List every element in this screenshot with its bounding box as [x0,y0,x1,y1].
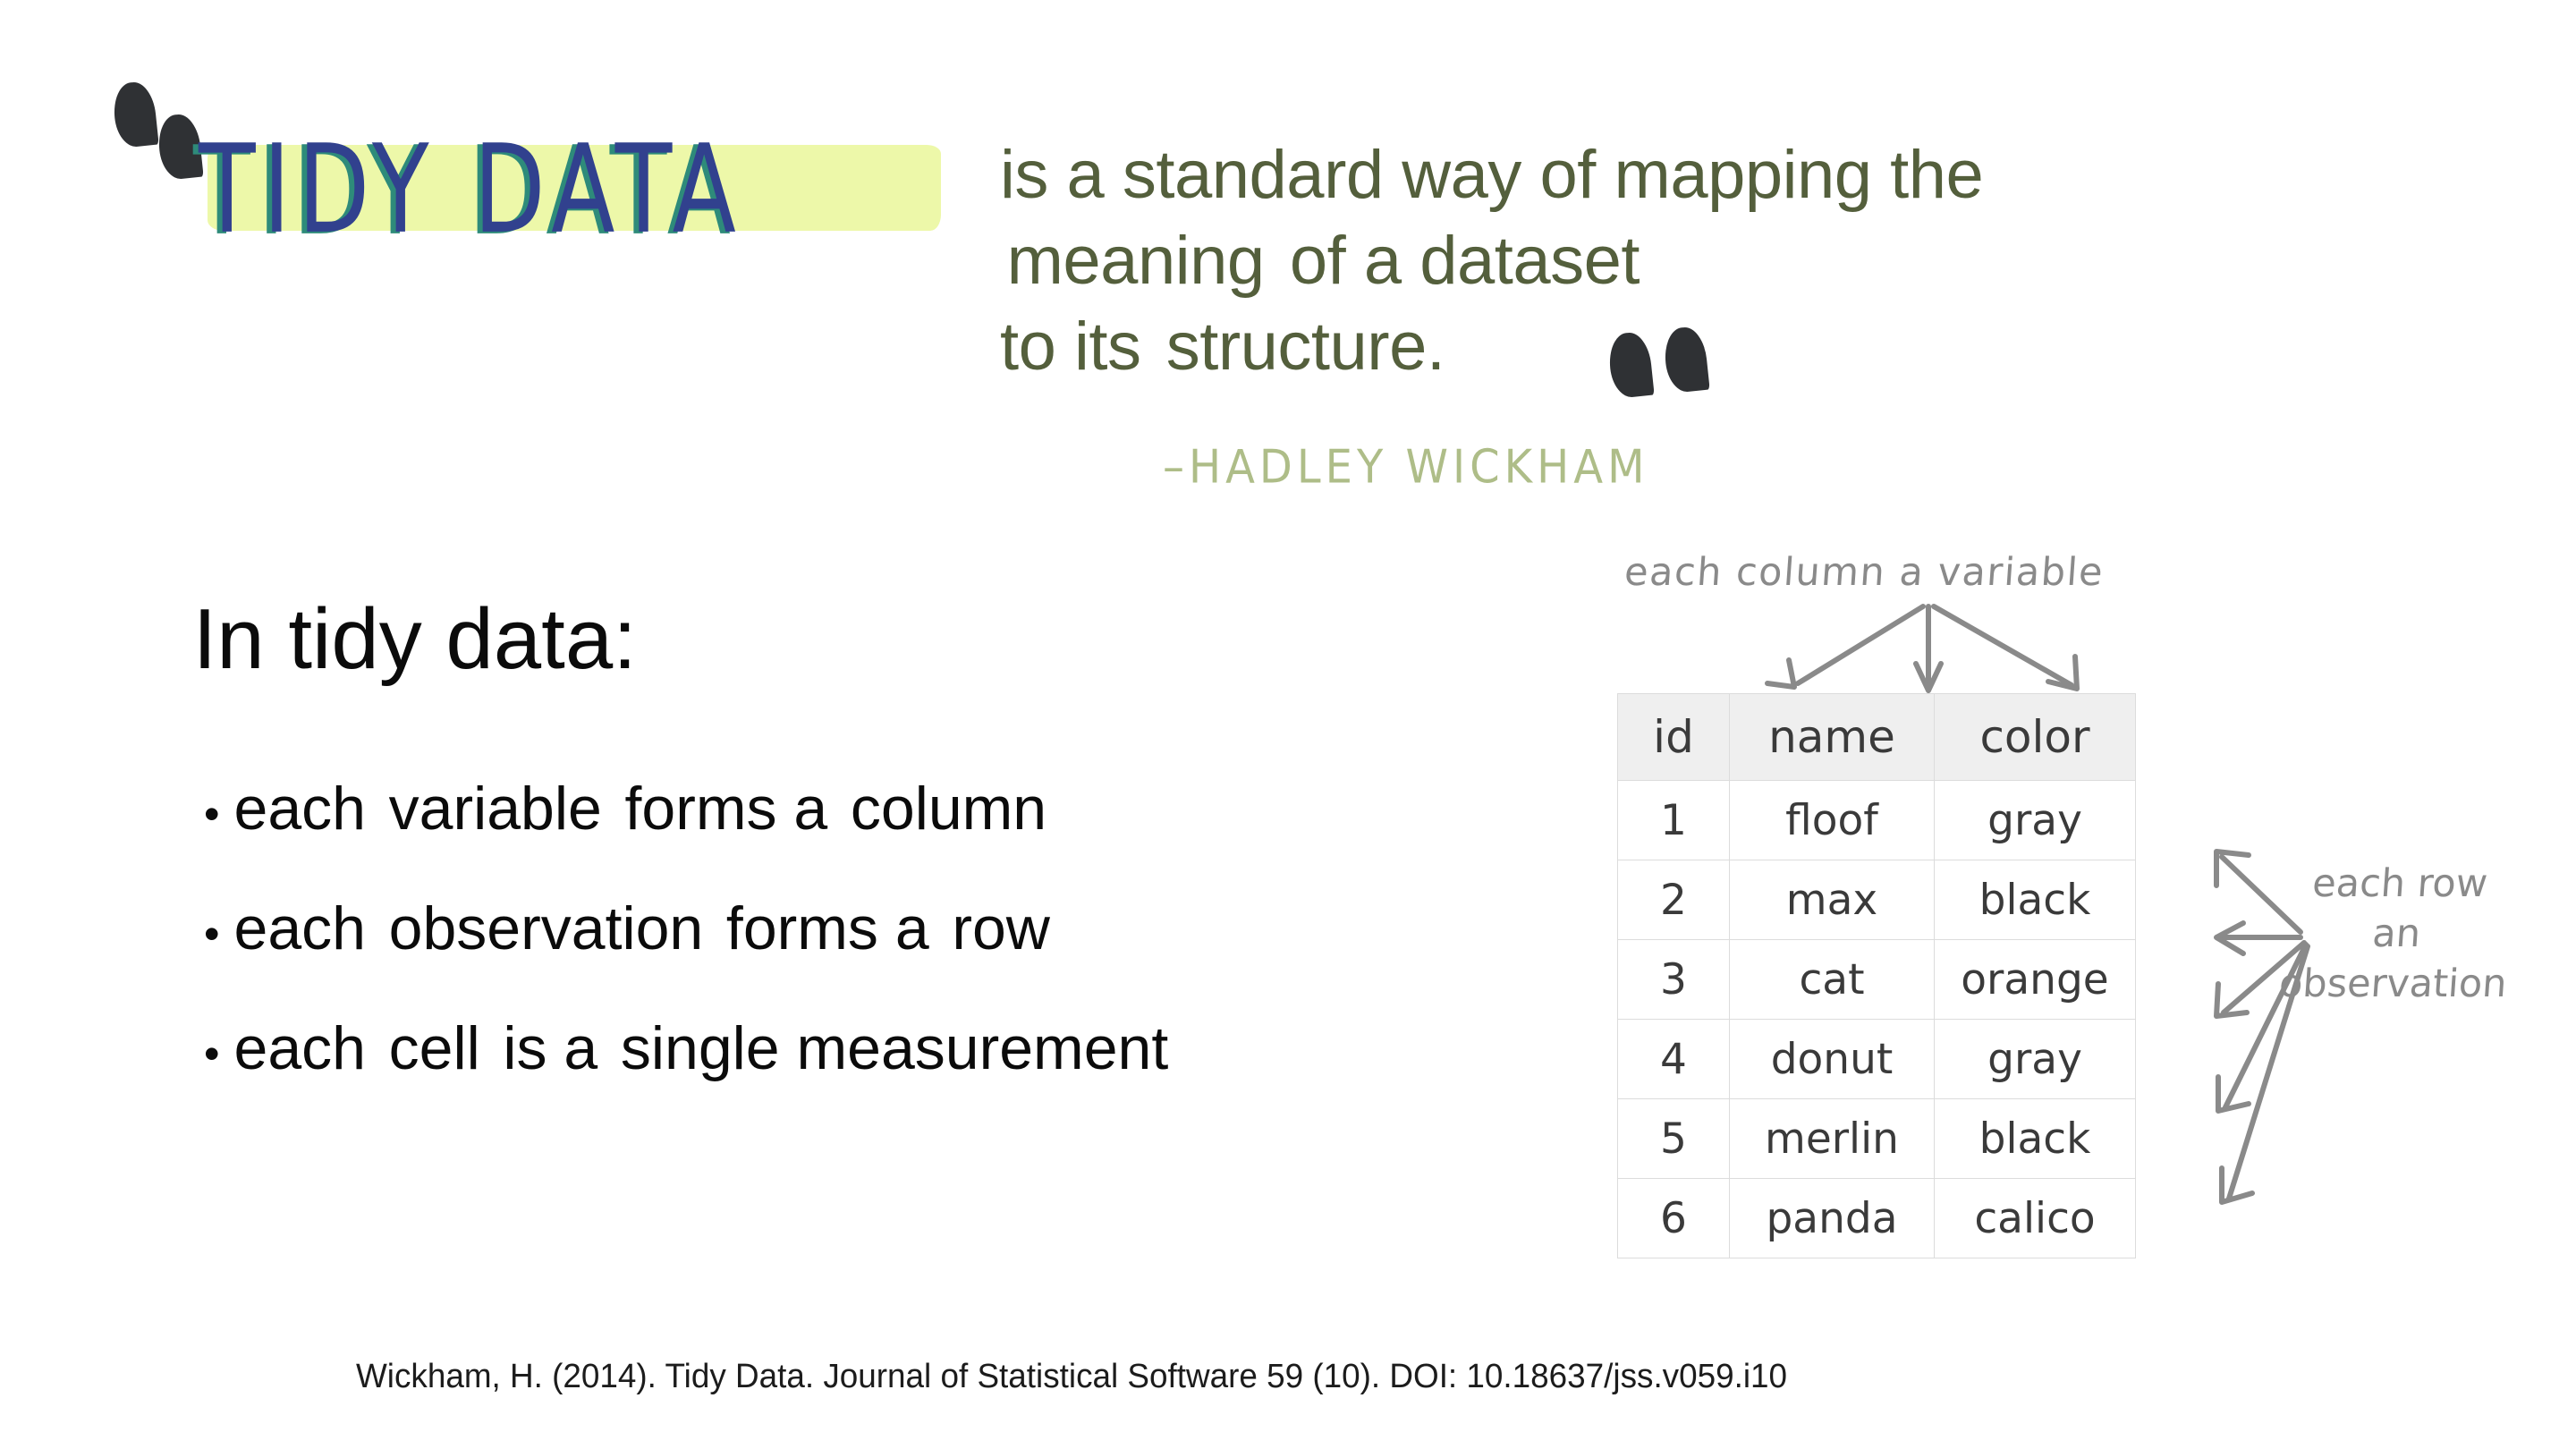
quote-line-3-lead: to its [1000,309,1159,385]
table-row: 5 merlin black [1618,1099,2136,1179]
quote-attribution: –HADLEY WICKHAM [1163,440,1649,494]
cell-id: 4 [1618,1020,1730,1099]
bullet-2-highlight-observation: observation [383,871,709,986]
bullet-1-highlight-column: column [844,751,1053,866]
bullet-2-keyword-observation: observation [389,894,704,962]
bullet-3-keyword-cell: cell [389,1014,480,1082]
bullet-2-highlight-row: row [946,871,1056,986]
cell-id: 6 [1618,1179,1730,1258]
bullet-2-keyword-row: row [952,894,1050,962]
bullet-2-text: each observation forms a row [234,871,1056,986]
bullet-marker: • [204,877,220,991]
quote-keyword-meaning: meaning [1007,223,1265,299]
quote-keyword-structure: structure [1166,309,1427,385]
cell-name: cat [1730,940,1935,1020]
cell-color: orange [1935,940,2136,1020]
bullet-1-mid: forms a [608,775,845,843]
quote-block: is a standard way of mapping the meaning… [1000,132,2216,390]
bullet-1-keyword-variable: variable [389,775,602,843]
in-tidy-data-text: In tidy data: [193,591,637,687]
cell-name: donut [1730,1020,1935,1099]
quote-line-3: to its structure. [1000,304,2216,390]
annotation-rows-line-2: an [2281,909,2512,959]
cell-id: 1 [1618,781,1730,860]
bullet-marker: • [204,757,220,871]
cell-id: 2 [1618,860,1730,940]
cell-name: floof [1730,781,1935,860]
bullet-3-mid: is a [487,1014,615,1082]
column-header-name: name [1730,694,1935,781]
table-row: 2 max black [1618,860,2136,940]
quote-line-2: meaning of a dataset [1000,218,2216,304]
cell-color: calico [1935,1179,2136,1258]
quote-line-1-text: is a standard way of mapping the [1000,137,1983,213]
quote-line-1: is a standard way of mapping the [1000,132,2216,218]
table-row: 3 cat orange [1618,940,2136,1020]
bullet-marker: • [204,996,220,1111]
bullet-3-text: each cell is a single measurement [234,991,1175,1106]
opening-quote-mark-left [111,80,158,148]
list-item: • each variable forms a column [204,751,1546,871]
citation: Wickham, H. (2014). Tidy Data. Journal o… [356,1358,1787,1396]
list-item: • each observation forms a row [204,871,1546,991]
bullet-2-mid: forms a [709,894,946,962]
in-tidy-data-highlight: In tidy data: [184,586,646,693]
in-tidy-data-heading: In tidy data: [184,586,646,693]
pets-table: id name color 1 floof gray 2 max black 3… [1617,693,2136,1258]
column-arrows [1655,601,2227,701]
quote-highlight-structure: structure. [1159,304,1452,390]
quote-period: . [1427,309,1445,385]
annotation-rows-line-1: each row [2284,859,2515,909]
bullet-2-pre: each [234,894,383,962]
annotation-rows-line-3: observation [2277,959,2508,1009]
table-row: 6 panda calico [1618,1179,2136,1258]
list-item: • each cell is a single measurement [204,991,1546,1111]
table-row: 4 donut gray [1618,1020,2136,1099]
annotation-each-row-an-observation: each row an observation [2277,859,2515,1009]
cell-color: gray [1935,781,2136,860]
cell-color: gray [1935,1020,2136,1099]
bullet-1-pre: each [234,775,383,843]
quote-highlight-meaning: meaning [1000,218,1271,304]
bullet-3-pre: each [234,1014,383,1082]
cell-name: max [1730,860,1935,940]
cell-name: merlin [1730,1099,1935,1179]
column-header-color: color [1935,694,2136,781]
cell-id: 3 [1618,940,1730,1020]
bullet-1-text: each variable forms a column [234,751,1053,866]
bullet-3-highlight-measurement: single measurement [614,991,1174,1106]
column-header-id: id [1618,694,1730,781]
tidy-data-wordmark: TIDY DATA TIDY DATA [199,118,950,236]
cell-name: panda [1730,1179,1935,1258]
table-row: 1 floof gray [1618,781,2136,860]
annotation-each-column-a-variable: each column a variable [1623,550,2106,595]
quote-line-2-rest: of a dataset [1271,223,1640,299]
cell-id: 5 [1618,1099,1730,1179]
tidy-data-text: TIDY DATA [199,118,743,262]
bullet-3-highlight-cell: cell [383,991,487,1106]
bullet-3-keyword-measurement: single measurement [621,1014,1168,1082]
pets-table-wrap: id name color 1 floof gray 2 max black 3… [1617,693,2136,1258]
cell-color: black [1935,1099,2136,1179]
table-header-row: id name color [1618,694,2136,781]
bullet-list: • each variable forms a column • each ob… [204,751,1546,1111]
cell-color: black [1935,860,2136,940]
bullet-1-highlight-variable: variable [383,751,608,866]
bullet-1-keyword-column: column [851,775,1046,843]
